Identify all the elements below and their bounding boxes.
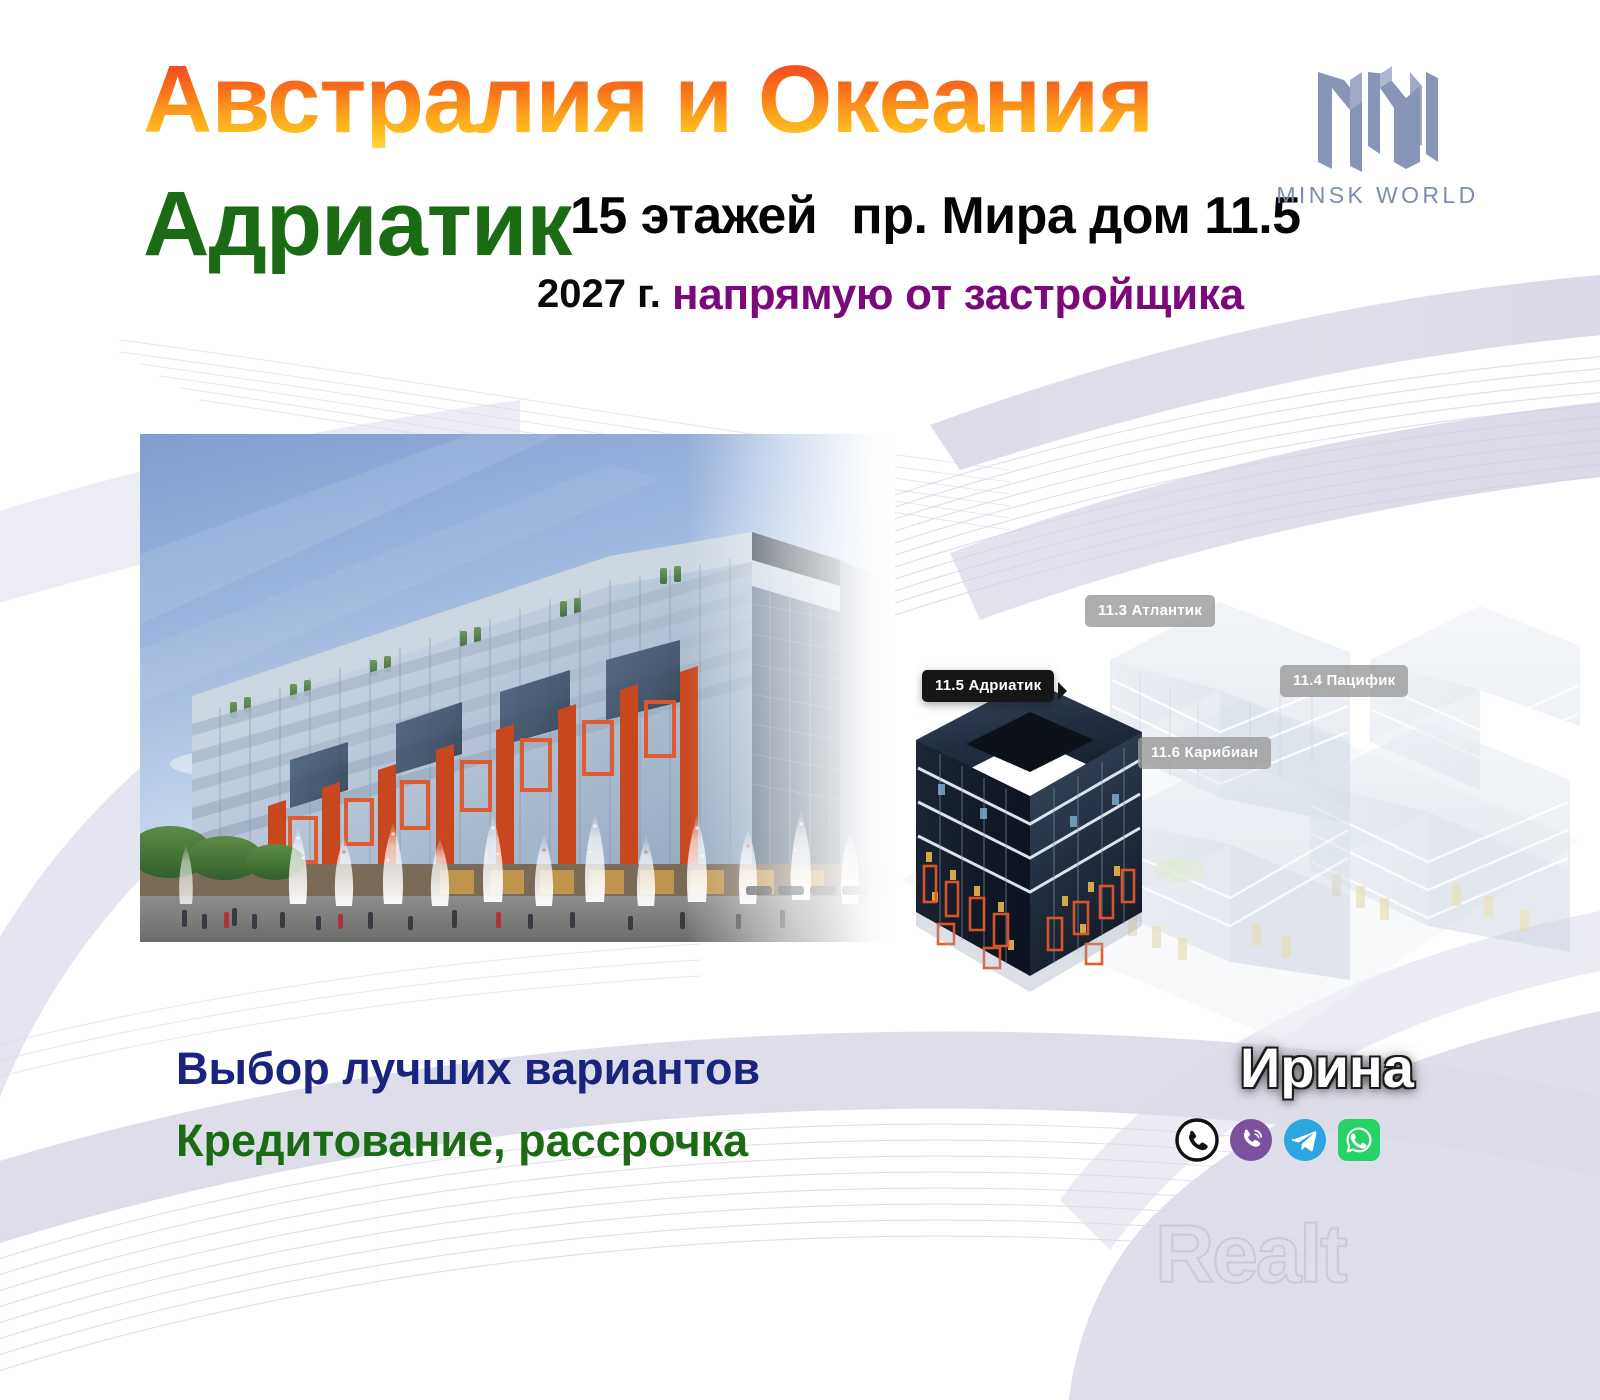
minsk-world-logo: MINSK WORLD	[1255, 66, 1500, 221]
advertisement-slide: Австралия и Океания Адриатик 15 этажейпр…	[0, 0, 1600, 1400]
building-render-photo	[140, 434, 895, 942]
header: Австралия и Океания Адриатик 15 этажейпр…	[0, 0, 1600, 330]
contact-icon-row	[1175, 1118, 1381, 1162]
plan-label-adriatic[interactable]: 11.5 Адриатик	[922, 670, 1054, 702]
mw-monogram-icon	[1310, 66, 1445, 174]
photo-right-fade	[685, 434, 895, 942]
direct-from-developer: напрямую от застройщика	[672, 270, 1244, 320]
logo-wordmark: MINSK WORLD	[1255, 182, 1500, 209]
page-title: Австралия и Океания	[143, 52, 1153, 148]
completion-year: 2027 г.	[537, 272, 661, 317]
whatsapp-icon[interactable]	[1337, 1118, 1381, 1162]
building-name: Адриатик	[143, 178, 571, 270]
floors-count: 15 этажей	[570, 187, 817, 245]
spec-line: 15 этажейпр. Мира дом 11.5	[570, 186, 1301, 246]
plan-label-atlantic[interactable]: 11.3 Атлантик	[1085, 595, 1215, 627]
plan-label-caribbean[interactable]: 11.6 Карибиан	[1138, 737, 1271, 769]
phone-icon[interactable]	[1175, 1118, 1219, 1162]
telegram-icon[interactable]	[1283, 1118, 1327, 1162]
viber-icon[interactable]	[1229, 1118, 1273, 1162]
realt-watermark: Realt	[1155, 1208, 1346, 1302]
offer-best-options: Выбор лучших вариантов	[176, 1043, 760, 1095]
site-plan-massing-illustration	[880, 540, 1580, 1040]
offer-credit-installment: Кредитование, рассрочка	[176, 1115, 748, 1167]
agent-name: Ирина	[1240, 1035, 1414, 1100]
complex-site-plan: 11.3 Атлантик 11.5 Адриатик 11.4 Пацифик…	[880, 540, 1580, 1040]
agent-contact-block: Ирина	[1170, 1030, 1430, 1195]
plan-label-pacific[interactable]: 11.4 Пацифик	[1280, 665, 1408, 697]
address: пр. Мира дом 11.5	[851, 187, 1300, 245]
